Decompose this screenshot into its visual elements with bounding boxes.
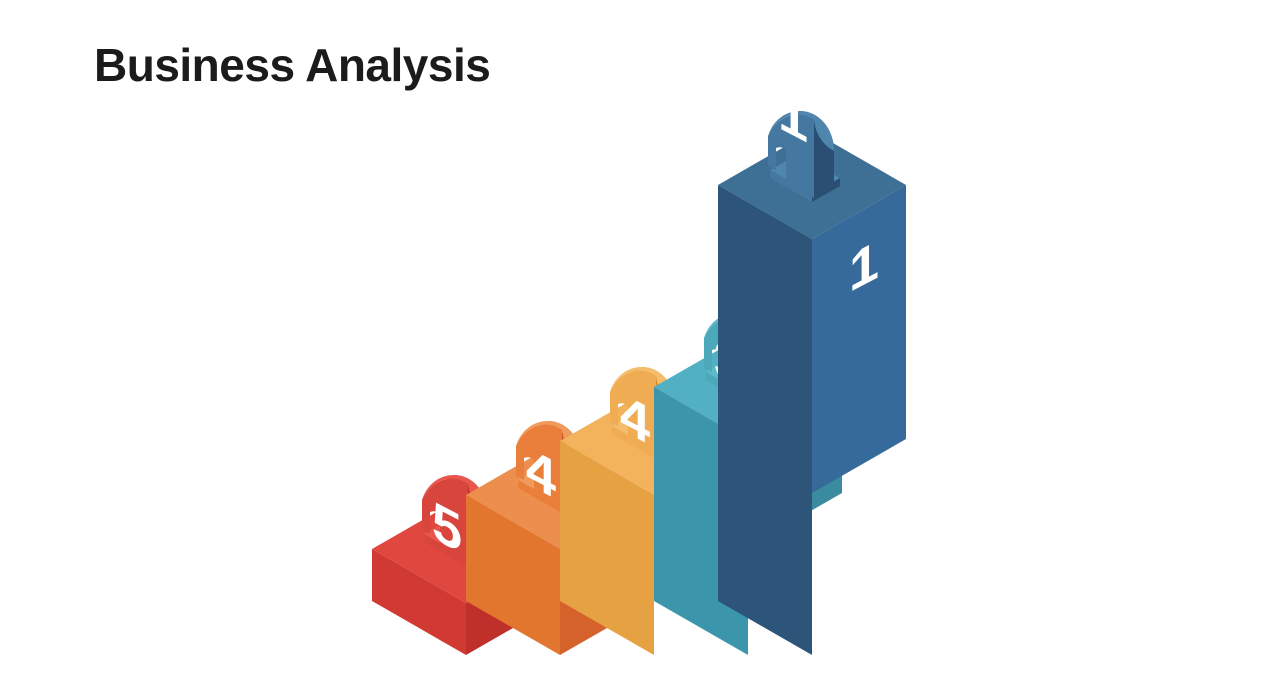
step-blue-right-face xyxy=(812,185,906,493)
slide-canvas: Business Analysis 5 xyxy=(0,0,1280,698)
step-blue[interactable]: 1 1 xyxy=(718,80,906,655)
isometric-staircase-diagram: 5 4 5 4 xyxy=(0,0,1280,698)
step-blue-left-face xyxy=(718,185,812,655)
